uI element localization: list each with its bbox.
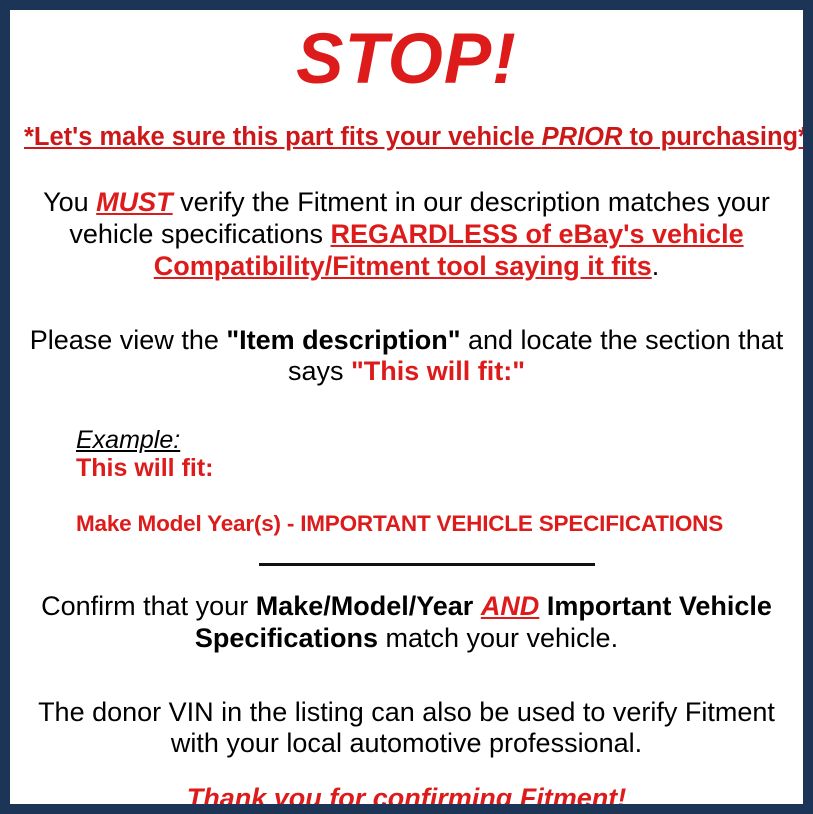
must-verify-paragraph: You MUST verify the Fitment in our descr…: [24, 187, 789, 283]
tagline-before: *Let's make sure this part fits your veh…: [24, 123, 542, 151]
example-spec-line: Make Model Year(s) - IMPORTANT VEHICLE S…: [76, 510, 789, 537]
confirm-paragraph: Confirm that your Make/Model/Year AND Im…: [24, 591, 789, 655]
example-label: Example:: [76, 426, 789, 454]
must-paragraph-part3: .: [652, 251, 660, 281]
donor-vin-paragraph: The donor VIN in the listing can also be…: [24, 697, 789, 761]
notice-content: STOP! *Let's make sure this part fits yo…: [10, 24, 803, 814]
section-divider: [259, 563, 595, 566]
confirm-part2: match your vehicle.: [378, 623, 618, 653]
must-paragraph-part1: You: [43, 187, 96, 217]
must-emphasis: MUST: [96, 187, 173, 217]
tagline-emphasis-prior: PRIOR: [542, 123, 623, 151]
tagline: *Let's make sure this part fits your veh…: [24, 123, 789, 151]
item-description-quote: "Item description": [226, 325, 460, 355]
make-model-year-emphasis: Make/Model/Year: [256, 591, 474, 621]
page-title: STOP!: [24, 24, 789, 95]
item-description-paragraph: Please view the "Item description" and l…: [24, 325, 789, 389]
thank-you-line: Thank you for confirming Fitment!: [24, 782, 789, 814]
confirm-part1: Confirm that your: [41, 591, 256, 621]
divider-wrapper: [24, 563, 789, 566]
item-desc-part1: Please view the: [30, 325, 227, 355]
confirm-wrapper: Confirm that your Make/Model/Year AND Im…: [24, 591, 789, 655]
fitment-notice-card: STOP! *Let's make sure this part fits yo…: [0, 0, 813, 814]
tagline-after: to purchasing*: [622, 123, 808, 151]
and-emphasis: AND: [481, 591, 540, 621]
this-will-fit-quote: "This will fit:": [351, 356, 525, 386]
example-block: Example: This will fit: Make Model Year(…: [24, 426, 789, 537]
example-fit-heading: This will fit:: [76, 454, 789, 484]
